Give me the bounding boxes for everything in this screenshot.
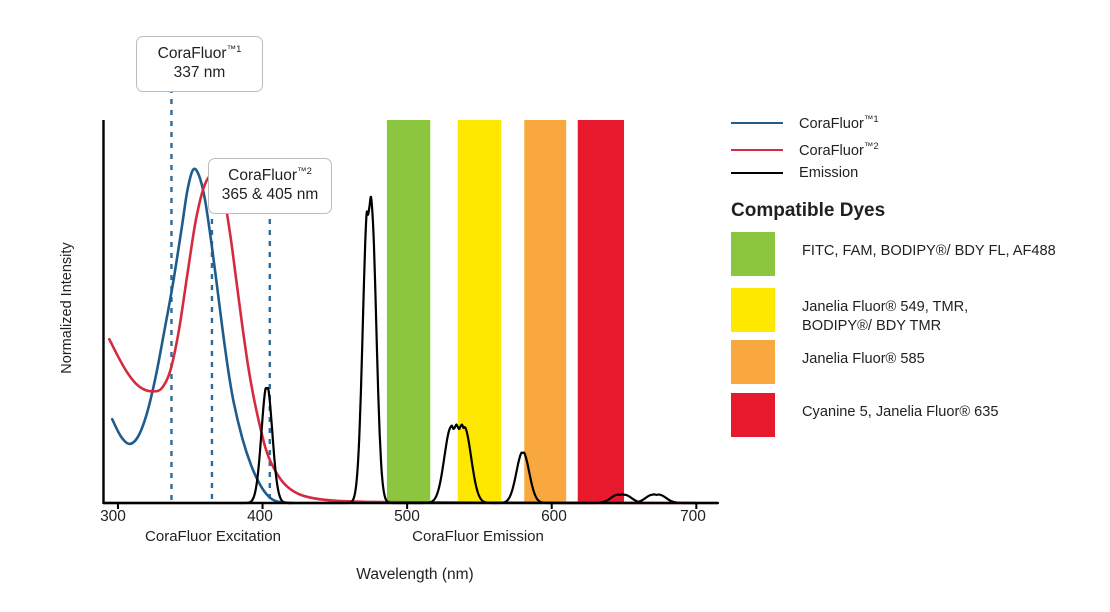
legend-label-corafluor-1: CoraFluor™1 [799, 114, 879, 132]
dye-label-yellow-line1: Janelia Fluor® 549, TMR, [802, 299, 968, 315]
green-band [387, 120, 430, 503]
legend-line-swatch-corafluor-2 [731, 149, 783, 151]
dye-label-orange-line1: Janelia Fluor® 585 [802, 351, 925, 367]
legend-item-corafluor-2: CoraFluor™2 [731, 141, 879, 159]
callout-corafluor-2: CoraFluor™2 365 & 405 nm [208, 158, 332, 214]
callout-corafluor-1: CoraFluor™1 337 nm [136, 36, 263, 92]
marker-dashed-lines [171, 88, 269, 503]
curve-corafluor-1 [112, 169, 291, 503]
legend-item-emission: Emission [731, 165, 858, 181]
callout-1-line2: 337 nm [149, 64, 250, 83]
dye-item-green: FITC, FAM, BODIPY®/ BDY FL, AF488 [731, 232, 1056, 276]
callout-2-line2: 365 & 405 nm [221, 186, 319, 205]
orange-band [524, 120, 566, 503]
callout-2-tm: ™2 [297, 166, 312, 177]
dye-swatch-green [731, 232, 775, 276]
dye-label-orange: Janelia Fluor® 585 [802, 340, 925, 369]
callout-1-line1: CoraFluor [158, 45, 227, 62]
legend-panel: CoraFluor™1 CoraFluor™2 Emission Compati… [731, 0, 1110, 612]
plot-area: Normalized Intensity 300 400 500 600 700… [0, 0, 730, 612]
yellow-band [458, 120, 501, 503]
legend-label-corafluor-2: CoraFluor™2 [799, 141, 879, 159]
dye-label-red-line1: Cyanine 5, Janelia Fluor® 635 [802, 404, 999, 420]
dye-label-yellow-line2: BODIPY®/ BDY TMR [802, 318, 941, 334]
x-tick-300: 300 [83, 508, 143, 526]
dye-item-red: Cyanine 5, Janelia Fluor® 635 [731, 393, 999, 437]
red-band [578, 120, 624, 503]
excitation-section-label: CoraFluor Excitation [113, 528, 313, 545]
x-tick-600: 600 [524, 508, 584, 526]
y-axis-label: Normalized Intensity [59, 213, 75, 403]
dye-swatch-orange [731, 340, 775, 384]
callout-1-tm: ™1 [227, 44, 242, 55]
dye-swatch-yellow [731, 288, 775, 332]
x-tick-400: 400 [230, 508, 290, 526]
legend-label-emission: Emission [799, 165, 858, 181]
dye-swatch-red [731, 393, 775, 437]
emission-section-label: CoraFluor Emission [378, 528, 578, 545]
legend-line-swatch-corafluor-1 [731, 122, 783, 124]
x-tick-500: 500 [377, 508, 437, 526]
compatible-dyes-heading: Compatible Dyes [731, 200, 885, 222]
dye-label-yellow: Janelia Fluor® 549, TMR, BODIPY®/ BDY TM… [802, 288, 968, 337]
dye-label-green-line1: FITC, FAM, BODIPY®/ BDY FL, AF488 [802, 243, 1056, 259]
x-tick-700: 700 [663, 508, 723, 526]
dye-item-yellow: Janelia Fluor® 549, TMR, BODIPY®/ BDY TM… [731, 288, 968, 337]
chart-figure: Normalized Intensity 300 400 500 600 700… [0, 0, 1110, 612]
emission-bands [387, 120, 624, 503]
x-axis-label: Wavelength (nm) [300, 566, 530, 584]
dye-label-green: FITC, FAM, BODIPY®/ BDY FL, AF488 [802, 232, 1056, 261]
dye-item-orange: Janelia Fluor® 585 [731, 340, 925, 384]
dye-label-red: Cyanine 5, Janelia Fluor® 635 [802, 393, 999, 422]
legend-line-swatch-emission [731, 172, 783, 174]
legend-item-corafluor-1: CoraFluor™1 [731, 114, 879, 132]
callout-2-line1: CoraFluor [228, 167, 297, 184]
